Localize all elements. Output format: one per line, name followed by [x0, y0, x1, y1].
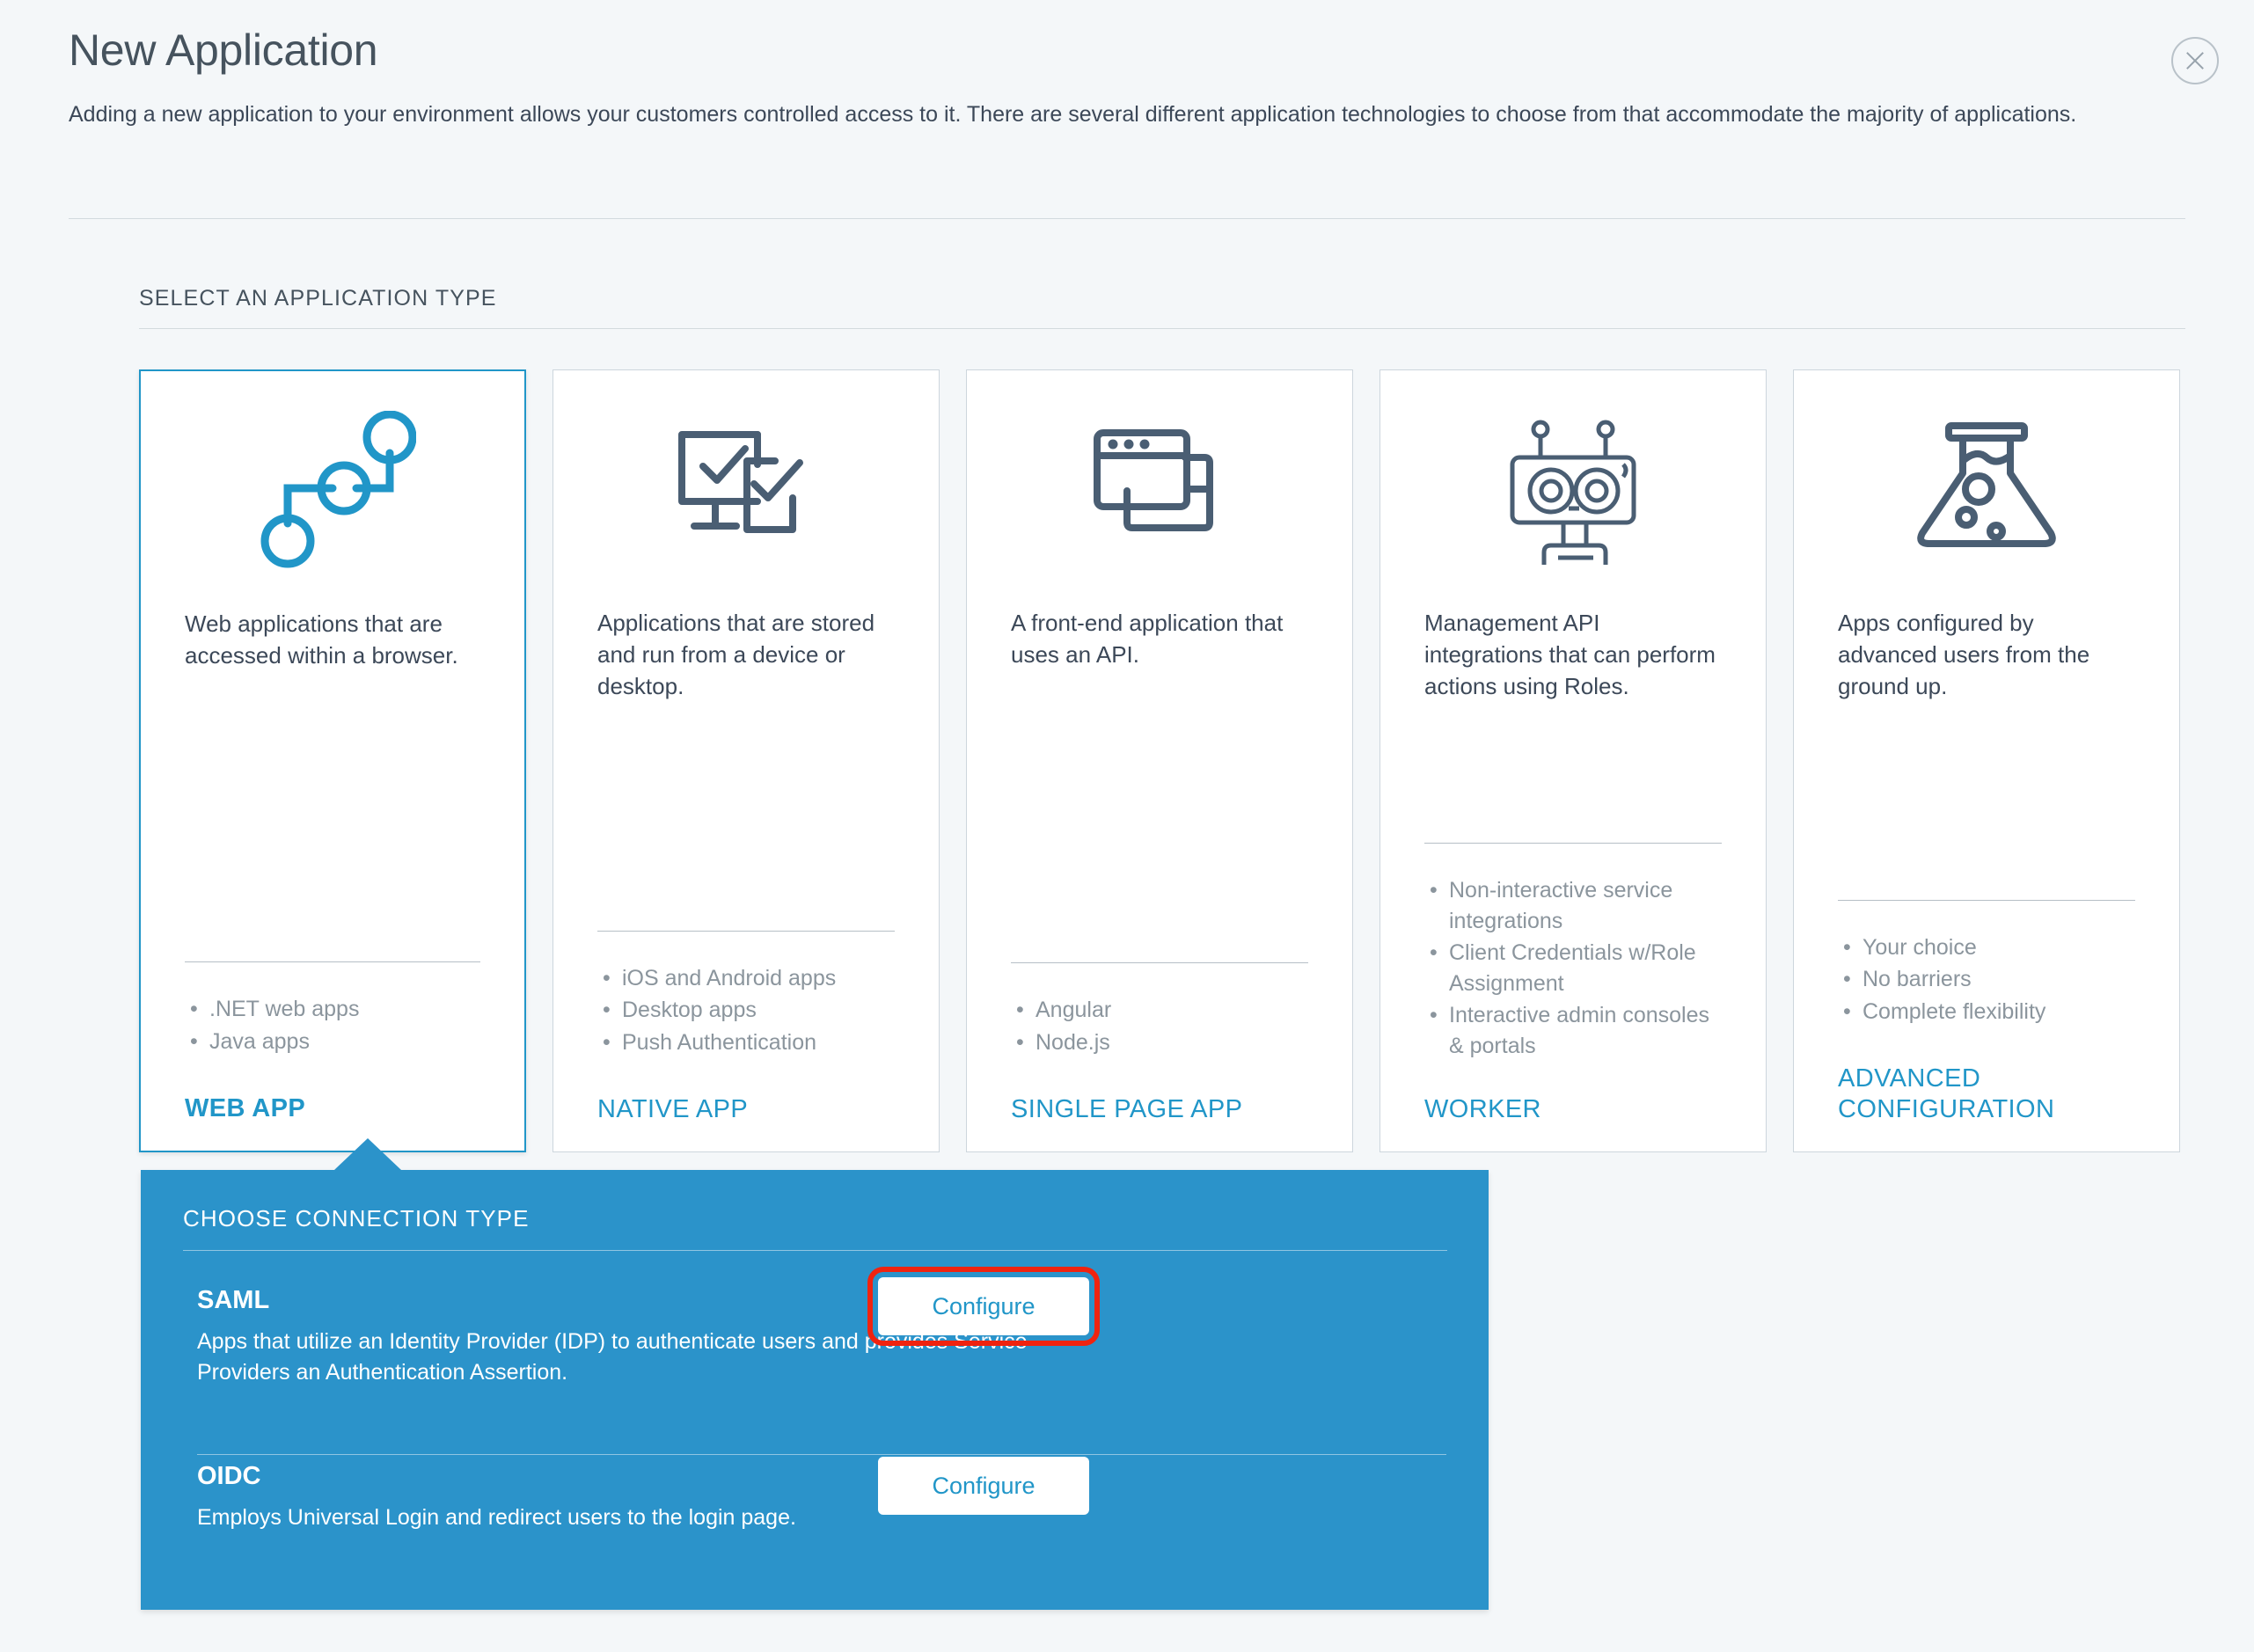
- application-type-card-single-page-app[interactable]: A front-end application that uses an API…: [966, 369, 1353, 1152]
- list-item: Desktop apps: [603, 995, 895, 1026]
- connection-row-divider: [197, 1454, 1446, 1455]
- card-bullet-list: Your choice No barriers Complete flexibi…: [1794, 901, 2179, 1029]
- close-icon[interactable]: [2171, 37, 2219, 84]
- page-header: New Application Adding a new application…: [69, 26, 2185, 131]
- card-link-web-app[interactable]: WEB APP: [141, 1058, 524, 1151]
- page-title: New Application: [69, 26, 2185, 75]
- list-item: iOS and Android apps: [603, 963, 895, 994]
- connection-description-saml: Apps that utilize an Identity Provider (…: [197, 1327, 1103, 1387]
- application-type-card-native-app[interactable]: Applications that are stored and run fro…: [553, 369, 940, 1152]
- configure-button-oidc[interactable]: Configure: [878, 1457, 1089, 1515]
- application-type-card-web-app[interactable]: Web applications that are accessed withi…: [139, 369, 526, 1152]
- flask-icon: [1794, 370, 2179, 608]
- card-link-advanced-configuration[interactable]: ADVANCED CONFIGURATION: [1794, 1028, 2179, 1151]
- card-bullet-list: Non-interactive service integrations Cli…: [1380, 844, 1766, 1063]
- card-bullet-list: .NET web apps Java apps: [141, 962, 524, 1058]
- card-bullet-list: Angular Node.js: [967, 963, 1352, 1059]
- card-spacer: [553, 703, 939, 852]
- list-item: Non-interactive service integrations: [1430, 875, 1722, 936]
- list-item: Java apps: [190, 1027, 480, 1057]
- application-type-card-advanced-configuration[interactable]: Apps configured by advanced users from t…: [1793, 369, 2180, 1152]
- list-item: No barriers: [1843, 964, 2135, 995]
- page-description: Adding a new application to your environ…: [69, 99, 2180, 131]
- stacked-browser-windows-icon: [967, 370, 1352, 608]
- card-link-native-app[interactable]: NATIVE APP: [553, 1059, 939, 1151]
- list-item: .NET web apps: [190, 994, 480, 1025]
- section-divider: [139, 328, 2185, 329]
- list-item: Angular: [1016, 995, 1308, 1026]
- card-spacer: [967, 671, 1352, 844]
- connection-name-saml: SAML: [197, 1286, 269, 1315]
- card-spacer: [1380, 703, 1766, 812]
- card-description: Web applications that are accessed withi…: [141, 609, 524, 672]
- list-item: Node.js: [1016, 1027, 1308, 1058]
- card-spacer: [1794, 703, 2179, 840]
- connection-name-oidc: OIDC: [197, 1462, 261, 1491]
- card-description: Management API integrations that can per…: [1380, 608, 1766, 703]
- configure-button-saml[interactable]: Configure: [878, 1277, 1089, 1335]
- card-description: Applications that are stored and run fro…: [553, 608, 939, 703]
- card-description: Apps configured by advanced users from t…: [1794, 608, 2179, 703]
- list-item: Client Credentials w/Role Assignment: [1430, 938, 1722, 998]
- monitor-and-device-check-icon: [553, 370, 939, 608]
- panel-pointer-arrow: [334, 1138, 401, 1170]
- panel-title-divider: [183, 1250, 1447, 1251]
- robot-icon: [1380, 370, 1766, 608]
- select-application-type-label: SELECT AN APPLICATION TYPE: [139, 286, 497, 311]
- card-bullet-list: iOS and Android apps Desktop apps Push A…: [553, 932, 939, 1060]
- list-item: Your choice: [1843, 932, 2135, 963]
- card-spacer: [141, 672, 524, 858]
- card-link-single-page-app[interactable]: SINGLE PAGE APP: [967, 1059, 1352, 1151]
- choose-connection-type-label: CHOOSE CONNECTION TYPE: [183, 1205, 530, 1232]
- list-item: Push Authentication: [603, 1027, 895, 1058]
- list-item: Complete flexibility: [1843, 997, 2135, 1027]
- network-nodes-icon: [141, 371, 524, 609]
- header-divider: [69, 218, 2185, 219]
- choose-connection-type-panel: CHOOSE CONNECTION TYPE SAML Apps that ut…: [141, 1170, 1489, 1610]
- card-description: A front-end application that uses an API…: [967, 608, 1352, 671]
- application-type-card-worker[interactable]: Management API integrations that can per…: [1379, 369, 1767, 1152]
- card-link-worker[interactable]: WORKER: [1380, 1063, 1766, 1151]
- list-item: Interactive admin consoles & portals: [1430, 1000, 1722, 1061]
- application-type-card-grid: Web applications that are accessed withi…: [139, 369, 2189, 1152]
